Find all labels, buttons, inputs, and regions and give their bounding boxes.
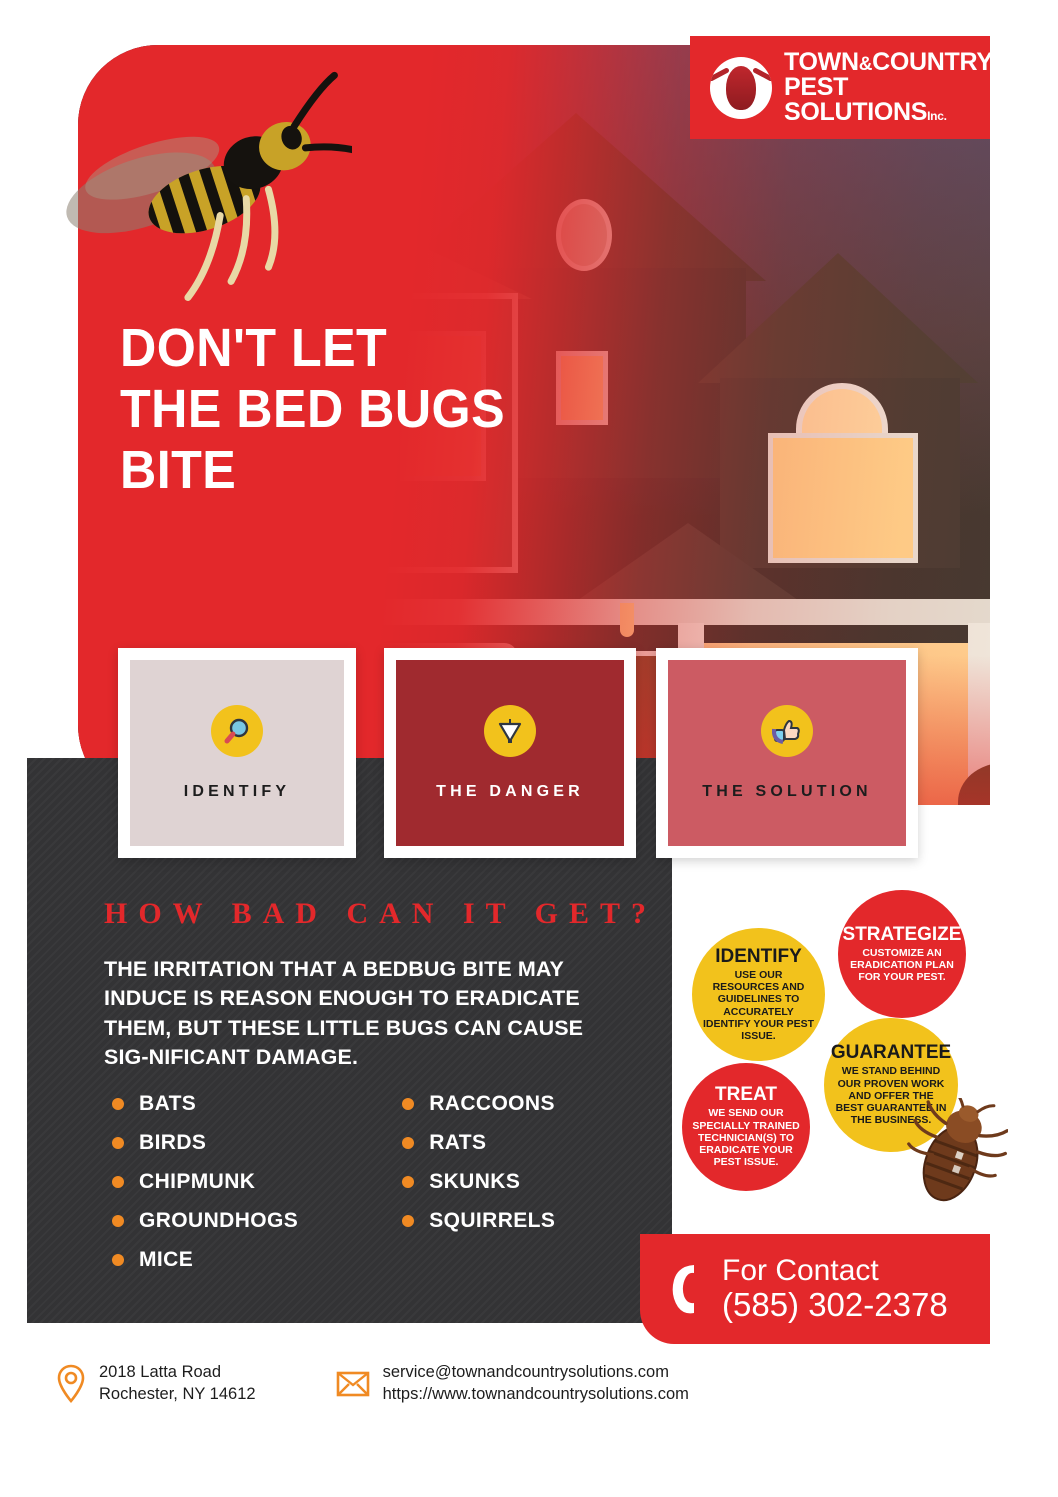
logo-ampersand: & [859,54,872,75]
map-pin-icon [56,1363,86,1405]
page-title: DON'T LET THE BED BUGS BITE [120,318,505,501]
list-item: MICE [112,1248,298,1272]
pest-column-left: BATS BIRDS CHIPMUNK GROUNDHOGS MICE [112,1092,298,1272]
footer: 2018 Latta Road Rochester, NY 14612 serv… [56,1362,689,1406]
contact-label: For Contact [722,1254,948,1288]
magnifier-icon [211,705,263,757]
card-label: THE DANGER [436,783,584,801]
bedbug-photo [900,1098,1008,1210]
bullet-icon [112,1137,124,1149]
phone-icon [668,1263,704,1315]
card-label: IDENTIFY [184,783,291,801]
card-identify[interactable]: IDENTIFY [118,648,356,858]
bullet-icon [402,1098,414,1110]
logo-line1-b: COUNTRY [872,48,993,76]
bug-emblem-icon [710,57,772,119]
contact-phone[interactable]: (585) 302-2378 [722,1287,948,1324]
list-item: RATS [402,1131,555,1155]
list-item: GROUNDHOGS [112,1209,298,1233]
section-paragraph: THE IRRITATION THAT A BEDBUG BITE MAY IN… [104,955,609,1073]
process-body: USE OUR RESOURCES AND GUIDELINES TO ACCU… [702,969,815,1043]
list-item: RACCOONS [402,1092,555,1116]
card-the-solution[interactable]: THE SOLUTION [656,648,918,858]
bullet-icon [112,1254,124,1266]
process-circle-strategize: STRATEGIZE CUSTOMIZE AN ERADICATION PLAN… [838,890,966,1018]
bullet-icon [402,1137,414,1149]
brand-logo[interactable]: TOWN&COUNTRY PEST SOLUTIONSInc. [690,36,990,139]
process-circle-treat: TREAT WE SEND OUR SPECIALLY TRAINED TECH… [682,1063,810,1191]
footer-address: 2018 Latta Road Rochester, NY 14612 [56,1362,256,1406]
process-body: CUSTOMIZE AN ERADICATION PLAN FOR YOUR P… [848,947,956,984]
footer-email[interactable]: service@townandcountrysolutions.com [383,1362,689,1384]
bullet-icon [112,1176,124,1188]
bullet-icon [112,1215,124,1227]
pest-column-right: RACCOONS RATS SKUNKS SQUIRRELS [402,1092,555,1272]
pest-list: BATS BIRDS CHIPMUNK GROUNDHOGS MICE RACC… [112,1092,555,1272]
logo-suffix: Inc. [927,109,946,123]
list-item: SKUNKS [402,1170,555,1194]
process-title: STRATEGIZE [843,925,962,944]
process-circle-identify: IDENTIFY USE OUR RESOURCES AND GUIDELINE… [692,928,825,1061]
address-line-2: Rochester, NY 14612 [99,1384,256,1406]
bullet-icon [402,1215,414,1227]
headline-line-2: THE BED BUGS [120,379,505,440]
logo-wordmark: TOWN&COUNTRY PEST SOLUTIONSInc. [784,50,993,125]
headline-line-3: BITE [120,440,505,501]
list-item: SQUIRRELS [402,1209,555,1233]
list-item: BATS [112,1092,298,1116]
bullet-icon [402,1176,414,1188]
list-item: CHIPMUNK [112,1170,298,1194]
thumbs-up-icon [761,705,813,757]
address-line-1: 2018 Latta Road [99,1362,256,1384]
process-body: WE SEND OUR SPECIALLY TRAINED TECHNICIAN… [692,1107,800,1168]
warning-triangle-icon [484,705,536,757]
contact-bar[interactable]: For Contact (585) 302-2378 [640,1234,990,1344]
footer-contact: service@townandcountrysolutions.com http… [336,1362,689,1406]
process-title: GUARANTEE [831,1043,951,1062]
section-heading: HOW BAD CAN IT GET? [104,897,657,931]
process-title: TREAT [715,1085,777,1104]
envelope-icon [336,1370,370,1398]
footer-website[interactable]: https://www.townandcountrysolutions.com [383,1384,689,1406]
card-label: THE SOLUTION [702,783,872,801]
logo-line2: PEST SOLUTIONS [784,73,927,126]
logo-line1-a: TOWN [784,48,859,76]
wasp-photo [52,62,352,302]
process-title: IDENTIFY [715,947,802,966]
list-item: BIRDS [112,1131,298,1155]
headline-line-1: DON'T LET [120,318,505,379]
bullet-icon [112,1098,124,1110]
card-the-danger[interactable]: THE DANGER [384,648,636,858]
